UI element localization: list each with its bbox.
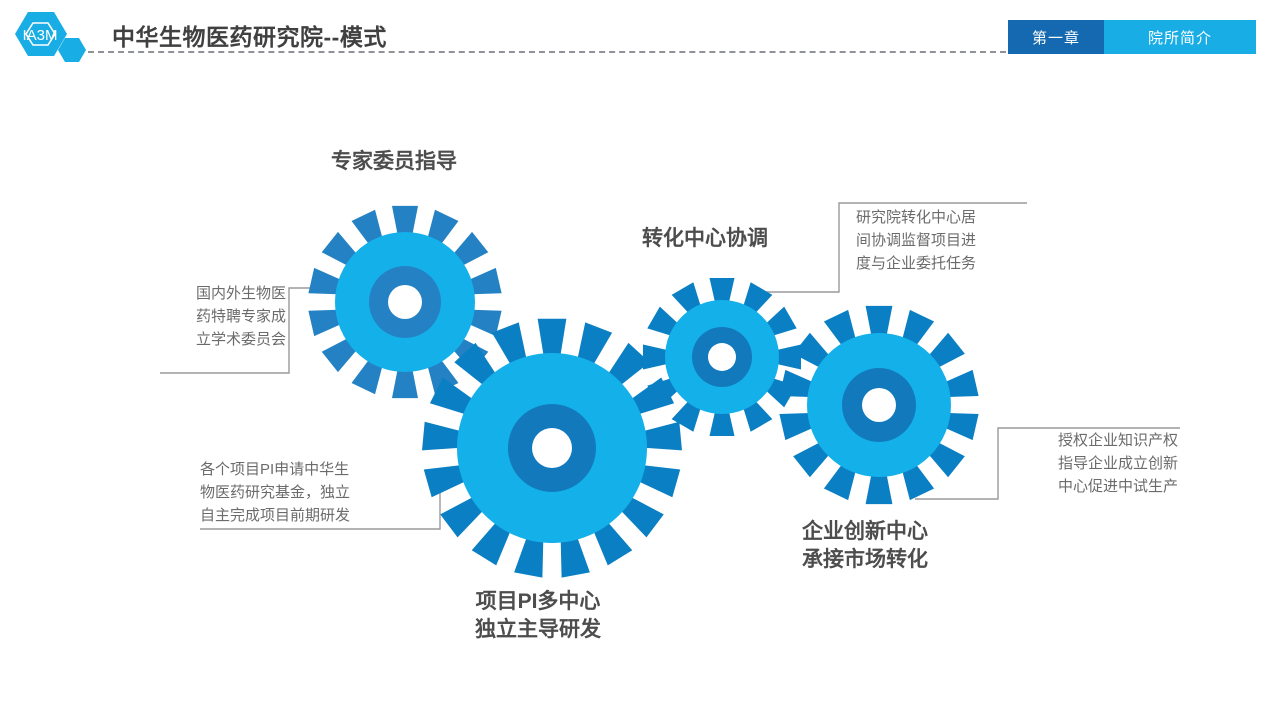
gear-title-pi-line1: 项目PI多中心	[475, 588, 601, 616]
gear-enterprise	[779, 306, 978, 504]
gear-transfer	[643, 278, 801, 436]
callout-expert: 国内外生物医 药特聘专家成 立学术委员会	[160, 283, 286, 351]
callout-pi-line3: 自主完成项目前期研发	[200, 505, 436, 528]
callout-enterprise-line2: 指导企业成立创新	[1008, 453, 1178, 476]
gear-enterprise-hole	[862, 388, 896, 422]
gear-process-diagram	[0, 0, 1280, 720]
callout-pi-line2: 物医药研究基金，独立	[200, 482, 436, 505]
callout-enterprise-line3: 中心促进中试生产	[1008, 476, 1178, 499]
callout-enterprise-line1: 授权企业知识产权	[1008, 430, 1178, 453]
callout-transfer-line3: 度与企业委托任务	[856, 253, 1024, 276]
gear-title-enterprise-line1: 企业创新中心	[802, 518, 928, 546]
callout-expert-line1: 国内外生物医	[160, 283, 286, 306]
gear-title-enterprise: 企业创新中心 承接市场转化	[802, 518, 928, 573]
callout-transfer: 研究院转化中心居 间协调监督项目进 度与企业委托任务	[856, 207, 1024, 275]
gear-title-enterprise-line2: 承接市场转化	[802, 546, 928, 574]
callout-expert-line3: 立学术委员会	[160, 329, 286, 352]
callout-enterprise: 授权企业知识产权 指导企业成立创新 中心促进中试生产	[1008, 430, 1178, 498]
gear-title-transfer: 转化中心协调	[642, 225, 768, 253]
gear-expert-hole	[388, 285, 422, 319]
callout-pi: 各个项目PI申请中华生 物医药研究基金，独立 自主完成项目前期研发	[200, 459, 436, 527]
callout-transfer-line1: 研究院转化中心居	[856, 207, 1024, 230]
callout-expert-line2: 药特聘专家成	[160, 306, 286, 329]
callout-pi-line1: 各个项目PI申请中华生	[200, 459, 436, 482]
gear-transfer-hole	[708, 343, 736, 371]
callout-transfer-line2: 间协调监督项目进	[856, 230, 1024, 253]
gear-title-pi: 项目PI多中心 独立主导研发	[475, 588, 601, 643]
gear-title-expert: 专家委员指导	[331, 148, 457, 176]
gear-title-pi-line2: 独立主导研发	[475, 616, 601, 644]
gear-pi-hole	[532, 428, 572, 468]
